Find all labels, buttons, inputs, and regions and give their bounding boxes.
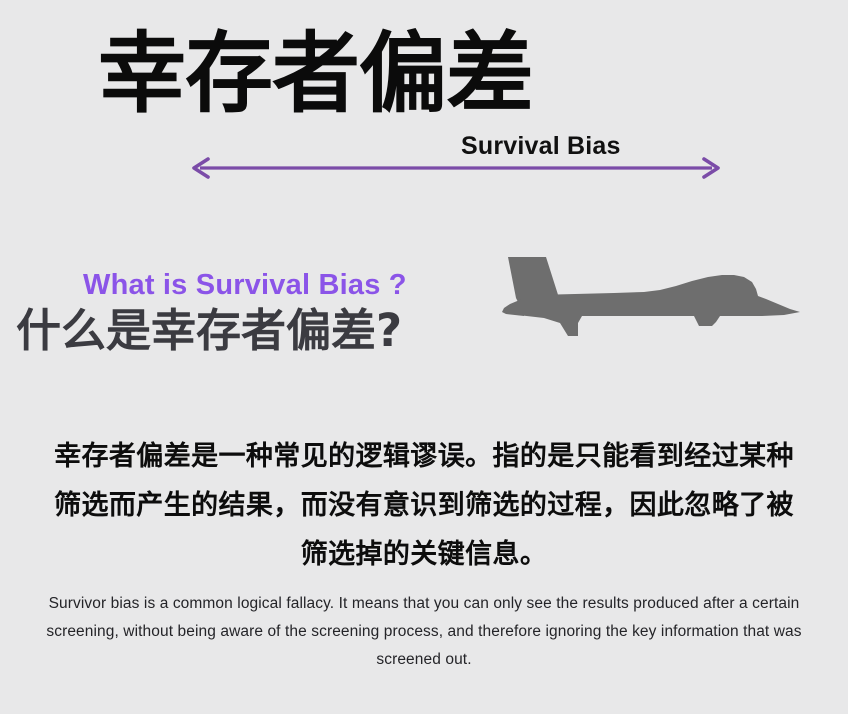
question-heading-en: What is Survival Bias ? (83, 268, 407, 302)
body-paragraph-en: Survivor bias is a common logical fallac… (30, 590, 818, 674)
page-title-zh: 幸存者偏差 (98, 26, 533, 122)
fighter-jet-icon (494, 246, 824, 356)
double-headed-arrow (188, 152, 724, 184)
slide-canvas: 幸存者偏差 Survival Bias What is Survival Bia… (0, 0, 848, 714)
question-heading-zh: 什么是幸存者偏差? (16, 303, 402, 359)
fighter-jet-silhouette (494, 246, 824, 356)
body-paragraph-zh: 幸存者偏差是一种常见的逻辑谬误。指的是只能看到经过某种筛选而产生的结果，而没有意… (44, 432, 804, 579)
double-headed-arrow-icon (188, 152, 724, 184)
